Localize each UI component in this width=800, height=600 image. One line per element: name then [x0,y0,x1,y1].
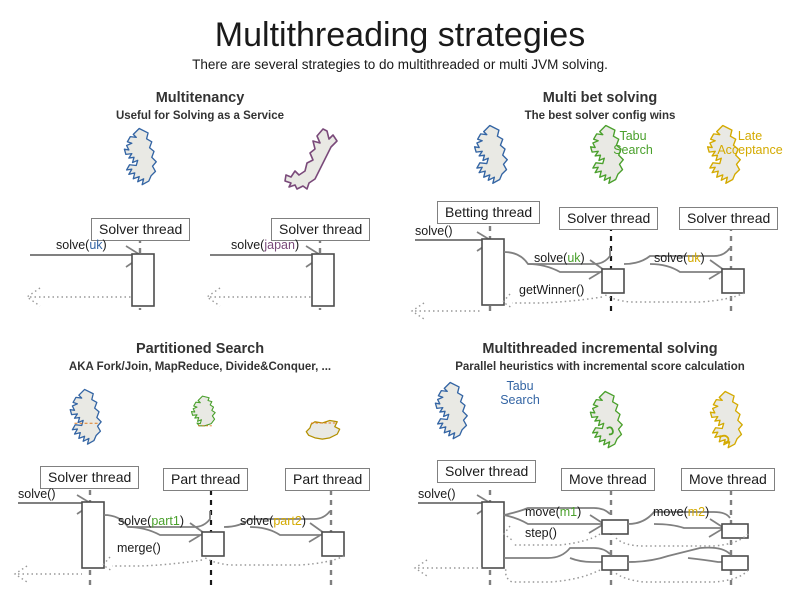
quadrant-title-incremental: Multithreaded incremental solving [440,341,760,357]
quadrant-subtitle-multi-bet-solving: The best solver config wins [460,110,740,122]
thread-box-part-thread-1[interactable]: Part thread [163,468,248,491]
thread-box-move-thread-1[interactable]: Move thread [561,468,655,491]
message-suffix: ) [180,514,184,528]
quadrant-title-partitioned-search: Partitioned Search [40,341,360,357]
message-prefix: solve( [240,514,273,528]
message-suffix: ) [577,505,581,519]
message-arg: uk [567,251,580,265]
message-label-step: step() [525,526,557,540]
message-label-solve-uk-gold: solve(uk) [654,251,705,265]
message-arg: m2 [688,505,705,519]
message-suffix: ) [295,238,299,252]
message-suffix: ) [302,514,306,528]
message-label-solve-uk-green: solve(uk) [534,251,585,265]
message-label-solve-japan: solve(japan) [231,238,299,252]
uk-map-partitioned-icon [70,389,101,444]
late-acceptance-line1: Late [700,129,800,143]
message-prefix: solve( [231,238,264,252]
message-arg: uk [89,238,102,252]
thread-box-solver-thread-2[interactable]: Solver thread [679,207,778,230]
uk-map-blue-icon [475,126,508,184]
late-acceptance-line2: Acceptance [700,143,800,157]
page-subtitle: There are several strategies to do multi… [0,57,800,72]
thread-box-solver-thread[interactable]: Solver thread [40,466,139,489]
message-label-solve-entry: solve() [415,224,453,238]
tabu-search-line2: Search [480,393,560,407]
quadrant-subtitle-multitenancy: Useful for Solving as a Service [60,110,340,122]
message-arg: japan [264,238,295,252]
uk-part2-gold-icon [306,420,339,439]
thread-box-move-thread-2[interactable]: Move thread [681,468,775,491]
quadrant-subtitle-partitioned-search: AKA Fork/Join, MapReduce, Divide&Conquer… [20,361,380,373]
message-suffix: ) [701,251,705,265]
quadrant-subtitle-incremental: Parallel heuristics with incremental sco… [420,361,780,373]
tabu-search-map-label: Tabu Search [480,379,560,408]
message-prefix: move( [525,505,560,519]
diagram-root: Multithreading strategies There are seve… [0,0,800,600]
uk-map-gold-move-icon [710,391,742,447]
tabu-search-line2: Search [588,143,678,157]
late-acceptance-map-label: Late Acceptance [700,129,800,158]
tabu-search-line1: Tabu [588,129,678,143]
thread-box-solver-thread-1[interactable]: Solver thread [559,207,658,230]
message-label-move-m2: move(m2) [653,505,709,519]
thread-box-solver-thread[interactable]: Solver thread [437,460,536,483]
quadrant-title-multi-bet-solving: Multi bet solving [460,90,740,106]
message-label-solve-part1: solve(part1) [118,514,184,528]
partitioned-sequence [15,490,344,585]
message-label-move-m1: move(m1) [525,505,581,519]
message-label-solve-entry: solve() [418,487,456,501]
message-arg: m1 [560,505,577,519]
multi-bet-sequence [412,226,744,319]
tabu-search-line1: Tabu [480,379,560,393]
message-arg: part1 [151,514,180,528]
japan-map-icon [285,129,337,189]
uk-map-icon [124,128,156,184]
message-arg: uk [687,251,700,265]
message-prefix: solve( [654,251,687,265]
message-label-solve-uk: solve(uk) [56,238,107,252]
thread-box-part-thread-2[interactable]: Part thread [285,468,370,491]
message-suffix: ) [581,251,585,265]
message-prefix: solve( [118,514,151,528]
page-title: Multithreading strategies [0,16,800,55]
uk-map-blue-tabu-icon [435,382,467,438]
message-label-get-winner: getWinner() [519,283,584,297]
uk-map-green-move-icon [590,391,622,447]
tabu-search-map-label: Tabu Search [588,129,678,158]
message-prefix: solve( [56,238,89,252]
thread-box-betting-thread[interactable]: Betting thread [437,201,540,224]
message-suffix: ) [103,238,107,252]
message-label-merge: merge() [117,541,161,555]
message-label-solve-part2: solve(part2) [240,514,306,528]
message-arg: part2 [273,514,302,528]
uk-part1-green-icon [192,396,216,426]
message-label-solve-entry: solve() [18,487,56,501]
message-prefix: solve( [534,251,567,265]
message-prefix: move( [653,505,688,519]
quadrant-title-multitenancy: Multitenancy [60,90,340,106]
message-suffix: ) [705,505,709,519]
